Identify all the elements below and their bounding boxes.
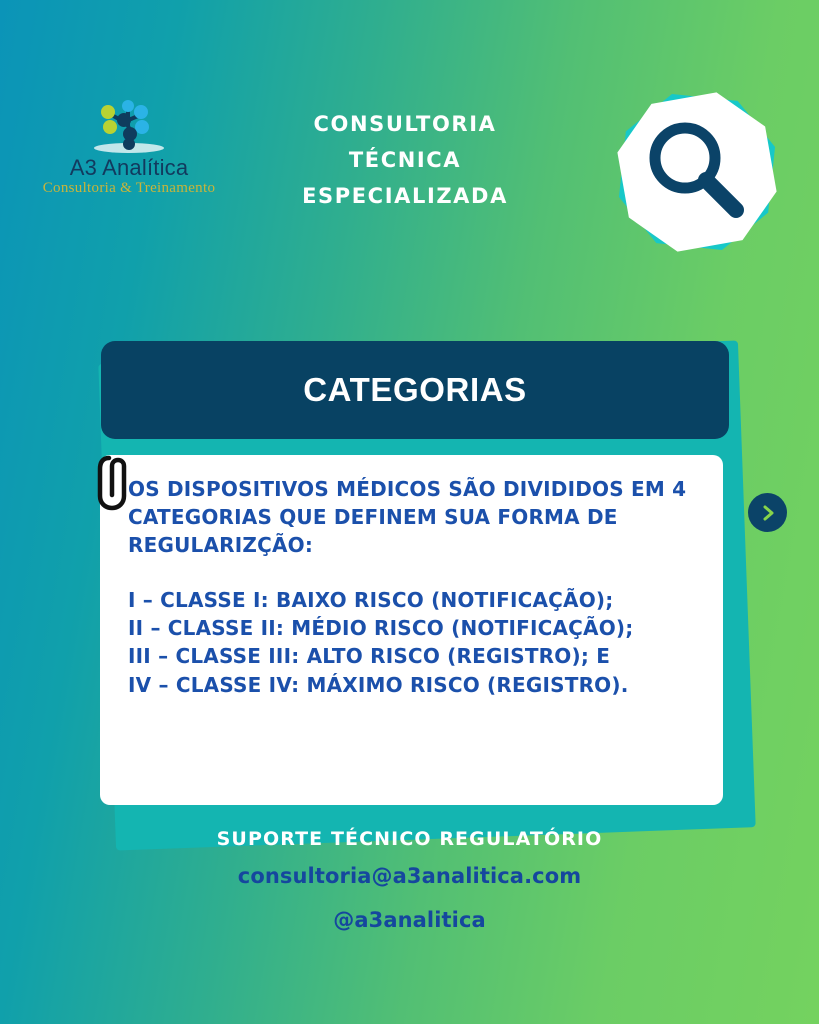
page-header: A3 Analítica Consultoria & Treinamento C…: [0, 0, 819, 270]
header-title: CONSULTORIA TÉCNICA ESPECIALIZADA: [255, 106, 555, 214]
footer-social-handle[interactable]: @a3analitica: [0, 908, 819, 932]
card-body: OS DISPOSITIVOS MÉDICOS SÃO DIVIDIDOS EM…: [128, 475, 705, 699]
next-slide-button[interactable]: [748, 493, 787, 532]
brand-name: A3 Analítica: [34, 156, 224, 179]
molecule-nodes-icon: [84, 96, 174, 154]
categorias-banner: CATEGORIAS: [101, 341, 729, 439]
footer-email[interactable]: consultoria@a3analitica.com: [0, 864, 819, 888]
page-footer: SUPORTE TÉCNICO REGULATÓRIO consultoria@…: [0, 828, 819, 932]
list-item: III – CLASSE III: ALTO RISCO (REGISTRO);…: [128, 642, 705, 670]
content-card: OS DISPOSITIVOS MÉDICOS SÃO DIVIDIDOS EM…: [100, 455, 723, 805]
brand-tagline: Consultoria & Treinamento: [34, 180, 224, 197]
chevron-right-icon: [759, 504, 777, 522]
magnifying-glass-icon: [617, 92, 777, 252]
banner-title: CATEGORIAS: [303, 371, 527, 409]
brand-logo: A3 Analítica Consultoria & Treinamento: [34, 96, 224, 197]
list-item: IV – CLASSE IV: MÁXIMO RISCO (REGISTRO).: [128, 671, 705, 699]
class-list: I – CLASSE I: BAIXO RISCO (NOTIFICAÇÃO);…: [128, 586, 705, 700]
list-item: I – CLASSE I: BAIXO RISCO (NOTIFICAÇÃO);: [128, 586, 705, 614]
footer-support-label: SUPORTE TÉCNICO REGULATÓRIO: [0, 828, 819, 850]
intro-paragraph: OS DISPOSITIVOS MÉDICOS SÃO DIVIDIDOS EM…: [128, 475, 705, 560]
list-item: II – CLASSE II: MÉDIO RISCO (NOTIFICAÇÃO…: [128, 614, 705, 642]
paperclip-icon: [97, 452, 137, 514]
